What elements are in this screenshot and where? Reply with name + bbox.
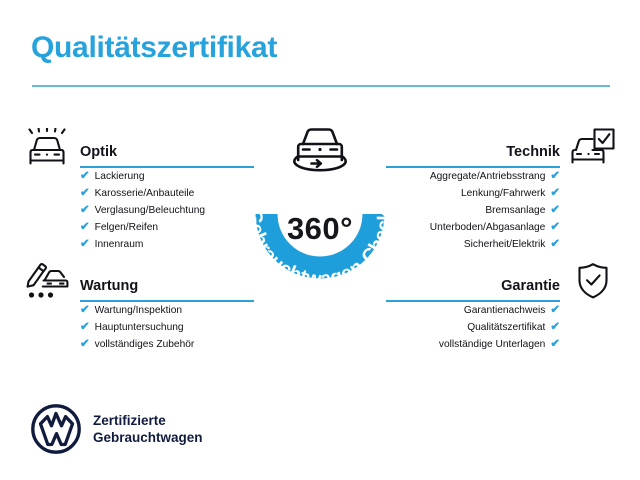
section-garantie-title: Garantie bbox=[501, 279, 560, 294]
section-wartung-list: ✔Wartung/Inspektion ✔Hauptuntersuchung ✔… bbox=[24, 302, 254, 353]
section-technik-list: Aggregate/Antriebsstrang✔ Lenkung/Fahrwe… bbox=[386, 168, 616, 253]
check-icon: ✔ bbox=[80, 205, 90, 217]
list-item-label: Unterboden/Abgasanlage bbox=[430, 219, 546, 236]
list-item-label: Qualitätszertifikat bbox=[467, 319, 545, 336]
list-item: Lenkung/Fahrwerk✔ bbox=[386, 185, 560, 202]
list-item: ✔vollständiges Zubehör bbox=[80, 336, 254, 353]
check-icon: ✔ bbox=[80, 239, 90, 251]
car-checkbox-icon bbox=[570, 128, 616, 166]
section-garantie-header: Garantie bbox=[386, 262, 616, 302]
section-optik-title: Optik bbox=[80, 145, 117, 160]
check-icon: ✔ bbox=[80, 322, 90, 334]
check-icon: ✔ bbox=[550, 205, 560, 217]
check-icon: ✔ bbox=[550, 305, 560, 317]
volkswagen-logo bbox=[31, 404, 81, 454]
footer-logo-block: Zertifizierte Gebrauchtwagen bbox=[31, 404, 291, 456]
section-wartung-underline bbox=[80, 300, 254, 302]
list-item: ✔Lackierung bbox=[80, 168, 254, 185]
list-item: ✔Hauptuntersuchung bbox=[80, 319, 254, 336]
section-technik-underline bbox=[386, 166, 560, 168]
check-icon: ✔ bbox=[550, 188, 560, 200]
section-garantie: Garantie Garantienachweis✔ Qualitätszert… bbox=[386, 262, 616, 353]
list-item: vollständige Unterlagen✔ bbox=[386, 336, 560, 353]
section-garantie-list: Garantienachweis✔ Qualitätszertifikat✔ v… bbox=[386, 302, 616, 353]
list-item: Unterboden/Abgasanlage✔ bbox=[386, 219, 560, 236]
list-item-label: Sicherheit/Elektrik bbox=[464, 236, 546, 253]
check-icon: ✔ bbox=[80, 222, 90, 234]
check-icon: ✔ bbox=[550, 171, 560, 183]
list-item-label: Garantienachweis bbox=[464, 302, 546, 319]
list-item: Garantienachweis✔ bbox=[386, 302, 560, 319]
list-item: Bremsanlage✔ bbox=[386, 202, 560, 219]
list-item: ✔Wartung/Inspektion bbox=[80, 302, 254, 319]
check-icon: ✔ bbox=[550, 222, 560, 234]
section-technik-header: Technik bbox=[386, 128, 616, 168]
car-rotate-360-icon bbox=[284, 122, 356, 178]
check-icon: ✔ bbox=[550, 322, 560, 334]
badge-center-label: 360° bbox=[233, 213, 407, 244]
section-wartung: Wartung ✔Wartung/Inspektion ✔Hauptunters… bbox=[24, 262, 254, 353]
list-item-label: Aggregate/Antriebsstrang bbox=[430, 168, 546, 185]
section-technik: Technik Aggregate/Antriebsstrang✔ Lenkun… bbox=[386, 128, 616, 253]
section-garantie-underline bbox=[386, 300, 560, 302]
footer-line-2: Gebrauchtwagen bbox=[93, 430, 203, 445]
list-item: ✔Innenraum bbox=[80, 236, 254, 253]
list-item-label: Lenkung/Fahrwerk bbox=[461, 185, 545, 202]
section-optik-header: Optik bbox=[24, 128, 254, 168]
qualitaetszertifikat-page: Qualitätszertifikat Optik ✔Lackierung ✔K… bbox=[0, 0, 640, 480]
list-item-label: Wartung/Inspektion bbox=[95, 302, 182, 319]
gebrauchtwagen-check-badge: Gebrauchtwagen-Check 360° bbox=[233, 127, 407, 301]
service-book-pen-car-icon bbox=[24, 262, 70, 300]
list-item: ✔Felgen/Reifen bbox=[80, 219, 254, 236]
section-optik-underline bbox=[80, 166, 254, 168]
list-item: Aggregate/Antriebsstrang✔ bbox=[386, 168, 560, 185]
list-item-label: vollständige Unterlagen bbox=[439, 336, 545, 353]
check-icon: ✔ bbox=[80, 339, 90, 351]
check-icon: ✔ bbox=[80, 305, 90, 317]
title-divider bbox=[32, 85, 610, 87]
section-technik-title: Technik bbox=[506, 145, 560, 160]
list-item-label: Bremsanlage bbox=[485, 202, 545, 219]
section-optik-list: ✔Lackierung ✔Karosserie/Anbauteile ✔Verg… bbox=[24, 168, 254, 253]
list-item-label: Hauptuntersuchung bbox=[95, 319, 184, 336]
list-item-label: Karosserie/Anbauteile bbox=[95, 185, 195, 202]
list-item: ✔Verglasung/Beleuchtung bbox=[80, 202, 254, 219]
footer-line-1: Zertifizierte bbox=[93, 413, 166, 428]
section-wartung-title: Wartung bbox=[80, 279, 138, 294]
check-icon: ✔ bbox=[550, 339, 560, 351]
list-item-label: Verglasung/Beleuchtung bbox=[95, 202, 205, 219]
car-shine-icon bbox=[24, 128, 70, 166]
section-optik: Optik ✔Lackierung ✔Karosserie/Anbauteile… bbox=[24, 128, 254, 253]
check-icon: ✔ bbox=[550, 239, 560, 251]
list-item-label: vollständiges Zubehör bbox=[95, 336, 195, 353]
footer-logo-text: Zertifizierte Gebrauchtwagen bbox=[93, 412, 203, 446]
list-item: ✔Karosserie/Anbauteile bbox=[80, 185, 254, 202]
check-icon: ✔ bbox=[80, 171, 90, 183]
list-item-label: Innenraum bbox=[95, 236, 144, 253]
list-item-label: Felgen/Reifen bbox=[95, 219, 158, 236]
list-item-label: Lackierung bbox=[95, 168, 145, 185]
list-item: Qualitätszertifikat✔ bbox=[386, 319, 560, 336]
page-title: Qualitätszertifikat bbox=[31, 33, 277, 63]
shield-check-icon bbox=[570, 262, 616, 300]
check-icon: ✔ bbox=[80, 188, 90, 200]
section-wartung-header: Wartung bbox=[24, 262, 254, 302]
list-item: Sicherheit/Elektrik✔ bbox=[386, 236, 560, 253]
